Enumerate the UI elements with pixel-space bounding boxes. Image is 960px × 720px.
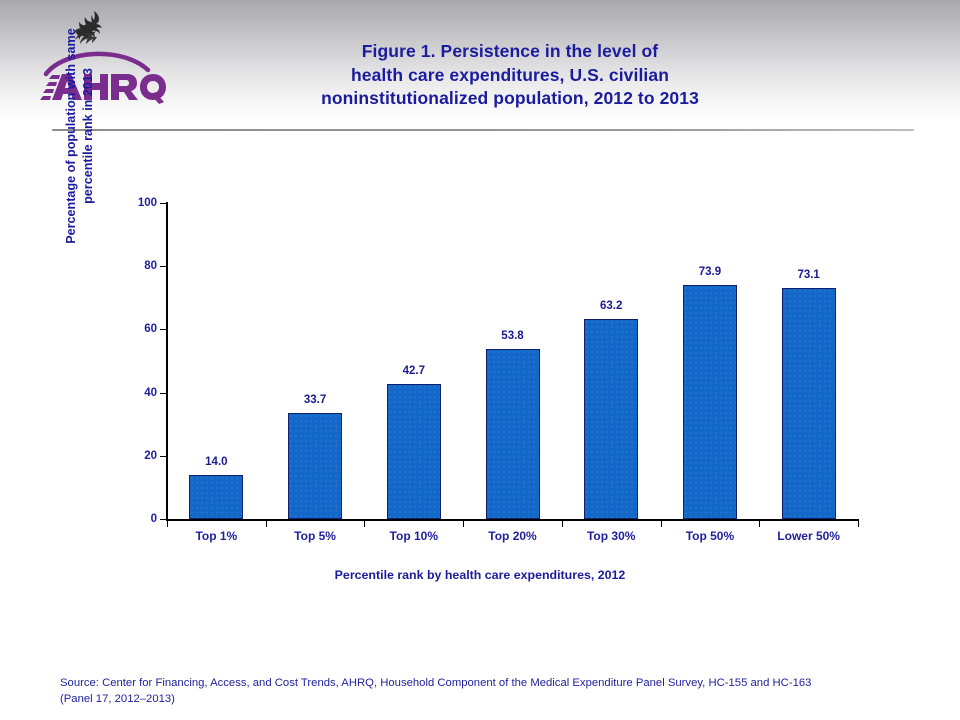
y-axis-tick-mark — [160, 456, 167, 457]
y-axis-tick-mark — [160, 329, 167, 330]
x-axis-tick-mark — [562, 519, 563, 527]
plot-area: 02040608010014.033.742.753.863.273.973.1 — [167, 203, 858, 519]
x-axis-tick-mark — [858, 519, 859, 527]
bar[interactable] — [683, 285, 737, 519]
bar-value-label: 42.7 — [403, 365, 425, 377]
y-axis-tick-label: 60 — [144, 323, 157, 335]
bar-value-label: 63.2 — [600, 300, 622, 312]
bar[interactable] — [189, 475, 243, 519]
y-axis-tick-label: 0 — [151, 513, 157, 525]
x-axis-tick-mark — [759, 519, 760, 527]
bar-value-label: 73.1 — [797, 269, 819, 281]
x-axis-tick-mark — [167, 519, 168, 527]
bar-chart: Percentage of population with same perce… — [0, 0, 960, 720]
bar[interactable] — [288, 413, 342, 519]
x-axis-tick-mark — [463, 519, 464, 527]
x-axis-category-label: Top 20% — [488, 529, 536, 543]
y-axis-title: Percentage of population with same perce… — [52, 0, 108, 281]
y-axis-tick-mark — [160, 393, 167, 394]
x-axis-tick-mark — [266, 519, 267, 527]
y-axis-tick-label: 20 — [144, 450, 157, 462]
bar[interactable] — [387, 384, 441, 519]
y-axis-tick-mark — [160, 203, 167, 204]
x-axis-tick-mark — [364, 519, 365, 527]
bar[interactable] — [782, 288, 836, 519]
bar[interactable] — [584, 319, 638, 519]
bar-value-label: 33.7 — [304, 394, 326, 406]
y-axis-tick-label: 80 — [144, 260, 157, 272]
bar-value-label: 73.9 — [699, 266, 721, 278]
x-axis-category-label: Top 1% — [195, 529, 237, 543]
bar[interactable] — [486, 349, 540, 519]
source-note-line-1: Source: Center for Financing, Access, an… — [60, 676, 930, 692]
x-axis-category-label: Lower 50% — [777, 529, 840, 543]
x-axis-category-label: Top 50% — [686, 529, 734, 543]
source-note-line-2: (Panel 17, 2012–2013) — [60, 692, 930, 708]
x-axis-category-label: Top 30% — [587, 529, 635, 543]
bar-value-label: 53.8 — [501, 330, 523, 342]
y-axis-title-line-1: Percentage of population with same — [64, 28, 78, 244]
x-axis-category-label: Top 5% — [294, 529, 336, 543]
y-axis-tick-label: 40 — [144, 387, 157, 399]
source-note: Source: Center for Financing, Access, an… — [60, 676, 930, 707]
y-axis-tick-label: 100 — [138, 197, 157, 209]
bar-value-label: 14.0 — [205, 456, 227, 468]
y-axis-tick-mark — [160, 519, 167, 520]
y-axis-title-line-2: percentile rank in 2013 — [81, 68, 95, 204]
y-axis-tick-mark — [160, 266, 167, 267]
x-axis-title: Percentile rank by health care expenditu… — [0, 568, 960, 582]
x-axis-tick-mark — [661, 519, 662, 527]
x-axis-line — [166, 519, 859, 521]
x-axis-category-label: Top 10% — [390, 529, 438, 543]
